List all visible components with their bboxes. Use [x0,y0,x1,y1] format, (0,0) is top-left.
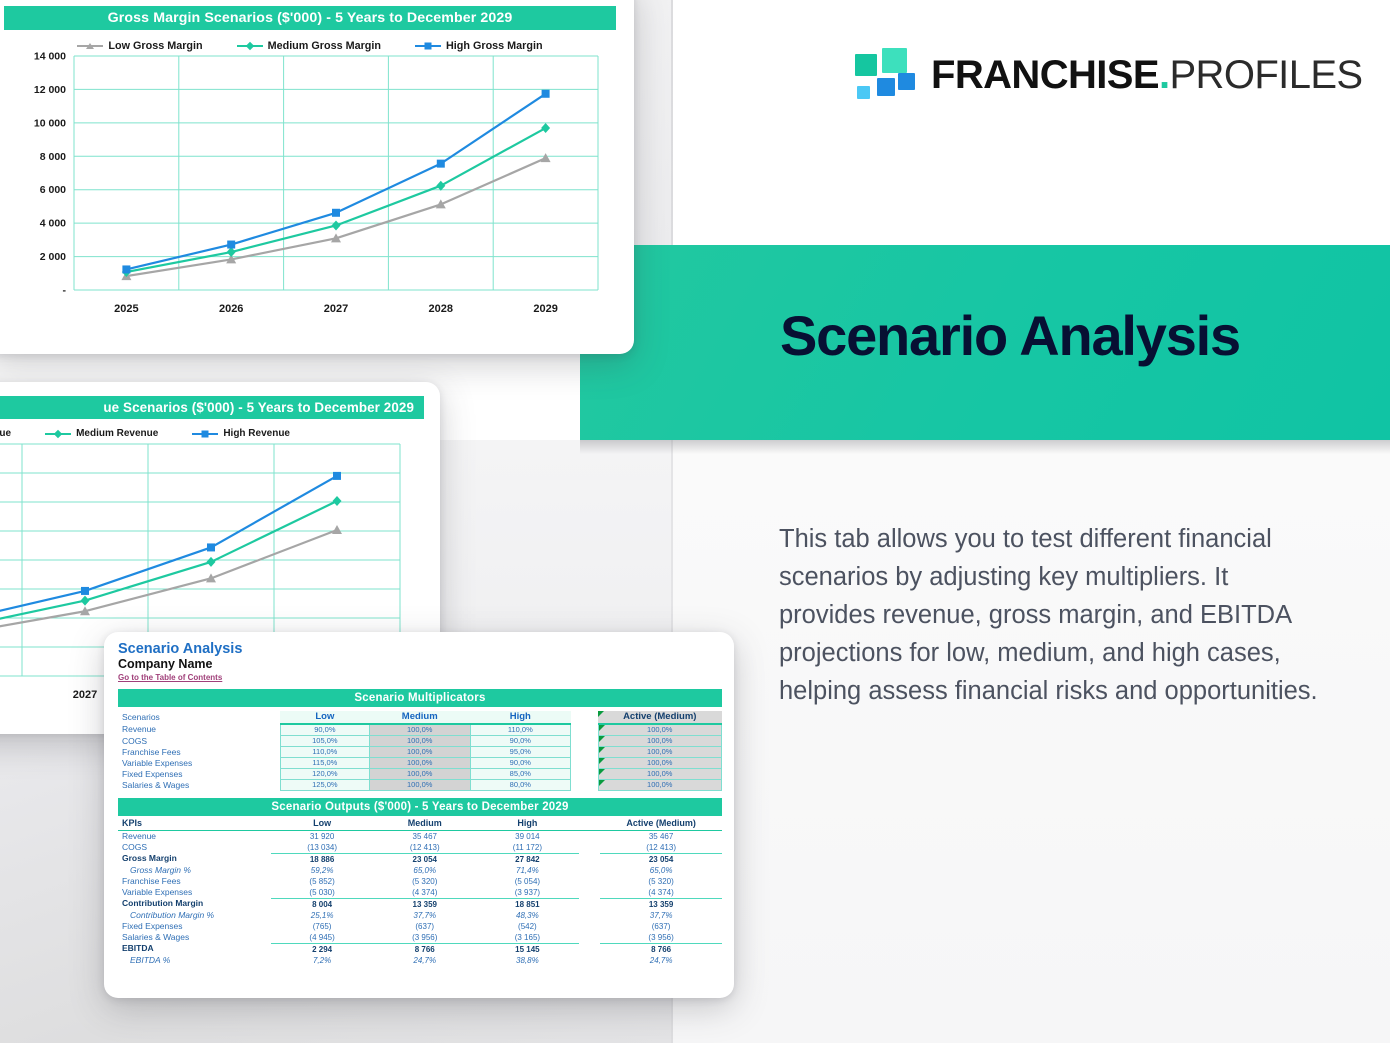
row-label: EBITDA % [118,955,271,966]
spacer [579,865,600,876]
cell-medium: (12 413) [373,842,476,854]
y-axis-tick-label: - [63,285,67,297]
data-point-marker [437,160,445,168]
spacer [579,943,600,955]
cell-medium[interactable]: 100,0% [369,735,470,746]
outputs-row: Gross Margin %59,2%65,0%71,4%65,0% [118,865,722,876]
cell-high: (11 172) [476,842,579,854]
multiplicators-row: COGS105,0%100,0%90,0%100,0% [118,735,722,746]
row-label: Franchise Fees [118,746,280,757]
cell-low[interactable]: 90,0% [280,724,369,736]
cell-high[interactable]: 95,0% [470,746,571,757]
outputs-row: Salaries & Wages(4 945)(3 956)(3 165)(3 … [118,932,722,944]
series-line-2 [126,94,545,270]
logo-word-franchise: FRANCHISE [931,53,1159,97]
sheet-body: Scenario Analysis Company Name Go to the… [104,632,734,974]
row-label: EBITDA [118,943,271,955]
cell-medium: 23 054 [373,853,476,865]
data-point-marker [333,496,342,506]
cell-medium[interactable]: 100,0% [369,724,470,736]
spacer [571,724,598,736]
outputs-row: Contribution Margin8 00413 35918 85113 3… [118,898,722,910]
series-line-1 [0,501,337,651]
spacer [579,842,600,854]
y-axis-tick-label: 10 000 [34,117,66,129]
row-label: Franchise Fees [118,876,271,887]
logo-word-profiles: PROFILES [1169,53,1362,97]
y-axis-tick-label: 14 000 [34,51,66,63]
scenario-multiplicators-table: ScenariosLowMediumHighActive (Medium)Rev… [118,711,722,791]
cell-active: (5 320) [600,876,722,887]
cell-high: 18 851 [476,898,579,910]
cell-high: 38,8% [476,955,579,966]
cell-active: 13 359 [600,898,722,910]
outputs-row: EBITDA2 2948 76615 1458 766 [118,943,722,955]
row-label: Gross Margin % [118,865,271,876]
x-axis-tick-label: 2027 [73,689,97,701]
cell-low[interactable]: 115,0% [280,757,369,768]
multiplicators-row: Salaries & Wages125,0%100,0%80,0%100,0% [118,779,722,790]
scenario-analysis-sheet-card: Scenario Analysis Company Name Go to the… [104,632,734,998]
gross-margin-chart-card: Gross Margin Scenarios ($'000) - 5 Years… [0,0,634,354]
cell-active: (4 374) [600,887,722,899]
cell-low[interactable]: 120,0% [280,768,369,779]
data-point-marker [81,587,89,595]
row-label: Contribution Margin % [118,910,271,921]
series-line-0 [126,158,545,276]
cell-medium: 37,7% [373,910,476,921]
x-axis-tick-label: 2025 [114,303,138,315]
cell-low[interactable]: 110,0% [280,746,369,757]
header-low: Low [271,818,374,831]
outputs-row: EBITDA %7,2%24,7%38,8%24,7% [118,955,722,966]
multiplicators-row: Fixed Expenses120,0%100,0%85,0%100,0% [118,768,722,779]
row-label: Revenue [118,724,280,736]
multiplicators-row: Revenue90,0%100,0%110,0%100,0% [118,724,722,736]
spacer [579,910,600,921]
cell-high[interactable]: 85,0% [470,768,571,779]
revenue-chart-title: ue Scenarios ($'000) - 5 Years to Decemb… [0,396,424,419]
row-label: Gross Margin [118,853,271,865]
data-point-marker [332,525,342,534]
cell-medium[interactable]: 100,0% [369,757,470,768]
y-axis-tick-label: 4 000 [40,218,66,230]
data-point-marker [436,181,445,191]
outputs-row: Franchise Fees(5 852)(5 320)(5 054)(5 32… [118,876,722,887]
cell-active: 24,7% [600,955,722,966]
cell-low: 59,2% [271,865,374,876]
cell-low: (765) [271,921,374,932]
data-point-marker [227,241,235,249]
data-point-marker [332,209,340,217]
header-high: High [476,818,579,831]
data-point-marker [207,543,215,551]
data-point-marker [227,247,236,257]
spacer [571,711,598,724]
cell-high: (3 165) [476,932,579,944]
cell-low: 8 004 [271,898,374,910]
y-axis-tick-label: 12 000 [34,84,66,96]
sheet-title: Scenario Analysis [118,642,722,657]
header-active: Active (Medium) [598,711,721,724]
data-point-marker [541,123,550,133]
cell-low: (5 030) [271,887,374,899]
row-label: Salaries & Wages [118,779,280,790]
cell-active: (637) [600,921,722,932]
header-active: Active (Medium) [600,818,722,831]
x-axis-tick-label: 2026 [219,303,243,315]
cell-medium: (5 320) [373,876,476,887]
row-label: Salaries & Wages [118,932,271,944]
x-axis-tick-label: 2029 [533,303,557,315]
cell-active: 35 467 [600,830,722,842]
spacer [579,932,600,944]
spacer [571,735,598,746]
cell-high: 15 145 [476,943,579,955]
cell-high[interactable]: 110,0% [470,724,571,736]
multiplicators-header-row: ScenariosLowMediumHighActive (Medium) [118,711,722,724]
header-scenarios: Scenarios [118,711,280,724]
cell-active: 65,0% [600,865,722,876]
row-label: Contribution Margin [118,898,271,910]
cell-active: 37,7% [600,910,722,921]
data-point-marker [541,153,551,162]
page-description: This tab allows you to test different fi… [779,520,1324,710]
spacer [571,768,598,779]
scenario-outputs-table: KPIsLowMediumHighActive (Medium)Revenue3… [118,818,722,966]
hero-band-shadow [580,440,1390,454]
data-point-marker [122,265,130,273]
cell-low: 2 294 [271,943,374,955]
logo-mark-icon [853,48,909,102]
multiplicators-row: Franchise Fees110,0%100,0%95,0%100,0% [118,746,722,757]
cell-active: 100,0% [598,779,721,790]
cell-medium: 13 359 [373,898,476,910]
data-point-marker [333,472,341,480]
data-point-marker [332,220,341,230]
row-label: COGS [118,842,271,854]
cell-medium: 65,0% [373,865,476,876]
logo-wordmark: FRANCHISE.PROFILES [931,55,1363,95]
table-of-contents-link[interactable]: Go to the Table of Contents [118,673,222,682]
data-point-marker [207,557,216,567]
outputs-row: Contribution Margin %25,1%37,7%48,3%37,7… [118,910,722,921]
header-kpis: KPIs [118,818,271,831]
cell-active: 100,0% [598,724,721,736]
cell-active: 100,0% [598,746,721,757]
x-axis-tick-label: 2028 [429,303,453,315]
cell-low: 25,1% [271,910,374,921]
spacer [571,746,598,757]
cell-active: (3 956) [600,932,722,944]
spacer [579,921,600,932]
page-title: Scenario Analysis [780,308,1240,364]
gross-margin-plot-svg: -2 0004 0006 0008 00010 00012 00014 0002… [0,42,634,342]
cell-low: (13 034) [271,842,374,854]
y-axis-tick-label: 6 000 [40,184,66,196]
cell-active: 100,0% [598,768,721,779]
cell-low: (5 852) [271,876,374,887]
outputs-header-row: KPIsLowMediumHighActive (Medium) [118,818,722,831]
row-label: Variable Expenses [118,757,280,768]
cell-high[interactable]: 90,0% [470,735,571,746]
cell-high: (5 054) [476,876,579,887]
cell-active: 23 054 [600,853,722,865]
cell-medium: 24,7% [373,955,476,966]
cell-medium[interactable]: 100,0% [369,779,470,790]
cell-active: (12 413) [600,842,722,854]
cell-low: 18 886 [271,853,374,865]
outputs-row: Variable Expenses(5 030)(4 374)(3 937)(4… [118,887,722,899]
x-axis-tick-label: 2027 [324,303,348,315]
cell-low[interactable]: 105,0% [280,735,369,746]
franchise-profiles-logo: FRANCHISE.PROFILES [853,48,1363,102]
cell-low[interactable]: 125,0% [280,779,369,790]
cell-active: 100,0% [598,735,721,746]
cell-high: 39 014 [476,830,579,842]
row-label: Fixed Expenses [118,921,271,932]
cell-low: (4 945) [271,932,374,944]
spacer [579,818,600,831]
spacer [571,757,598,768]
cell-medium: 8 766 [373,943,476,955]
cell-low: 31 920 [271,830,374,842]
cell-high: 71,4% [476,865,579,876]
scenario-outputs-band: Scenario Outputs ($'000) - 5 Years to De… [118,798,722,816]
row-label: Revenue [118,830,271,842]
spacer [571,779,598,790]
cell-active: 100,0% [598,757,721,768]
cell-high: (3 937) [476,887,579,899]
row-label: Variable Expenses [118,887,271,899]
gross-margin-chart-title: Gross Margin Scenarios ($'000) - 5 Years… [4,6,616,30]
outputs-row: COGS(13 034)(12 413)(11 172)(12 413) [118,842,722,854]
cell-high[interactable]: 80,0% [470,779,571,790]
spacer [579,898,600,910]
spacer [579,955,600,966]
cell-high[interactable]: 90,0% [470,757,571,768]
outputs-row: Fixed Expenses(765)(637)(542)(637) [118,921,722,932]
cell-medium[interactable]: 100,0% [369,768,470,779]
cell-medium: (637) [373,921,476,932]
cell-low: 7,2% [271,955,374,966]
row-label: Fixed Expenses [118,768,280,779]
sheet-company-name: Company Name [118,657,722,671]
cell-high: (542) [476,921,579,932]
cell-active: 8 766 [600,943,722,955]
header-low: Low [280,711,369,724]
gross-margin-plot-area: -2 0004 0006 0008 00010 00012 00014 0002… [0,42,634,342]
outputs-row: Gross Margin18 88623 05427 84223 054 [118,853,722,865]
data-point-marker [542,90,550,98]
scenario-multiplicators-band: Scenario Multiplicators [118,689,722,707]
cell-medium[interactable]: 100,0% [369,746,470,757]
data-point-marker [81,596,90,606]
spacer [579,876,600,887]
header-medium: Medium [373,818,476,831]
spacer [579,887,600,899]
cell-medium: (3 956) [373,932,476,944]
outputs-row: Revenue31 92035 46739 01435 467 [118,830,722,842]
logo-dot: . [1159,53,1170,97]
series-line-1 [126,128,545,272]
cell-medium: (4 374) [373,887,476,899]
cell-medium: 35 467 [373,830,476,842]
y-axis-tick-label: 8 000 [40,151,66,163]
spacer [579,830,600,842]
y-axis-tick-label: 2 000 [40,251,66,263]
row-label: COGS [118,735,280,746]
multiplicators-row: Variable Expenses115,0%100,0%90,0%100,0% [118,757,722,768]
cell-high: 27 842 [476,853,579,865]
spacer [579,853,600,865]
cell-high: 48,3% [476,910,579,921]
header-medium: Medium [369,711,470,724]
header-high: High [470,711,571,724]
